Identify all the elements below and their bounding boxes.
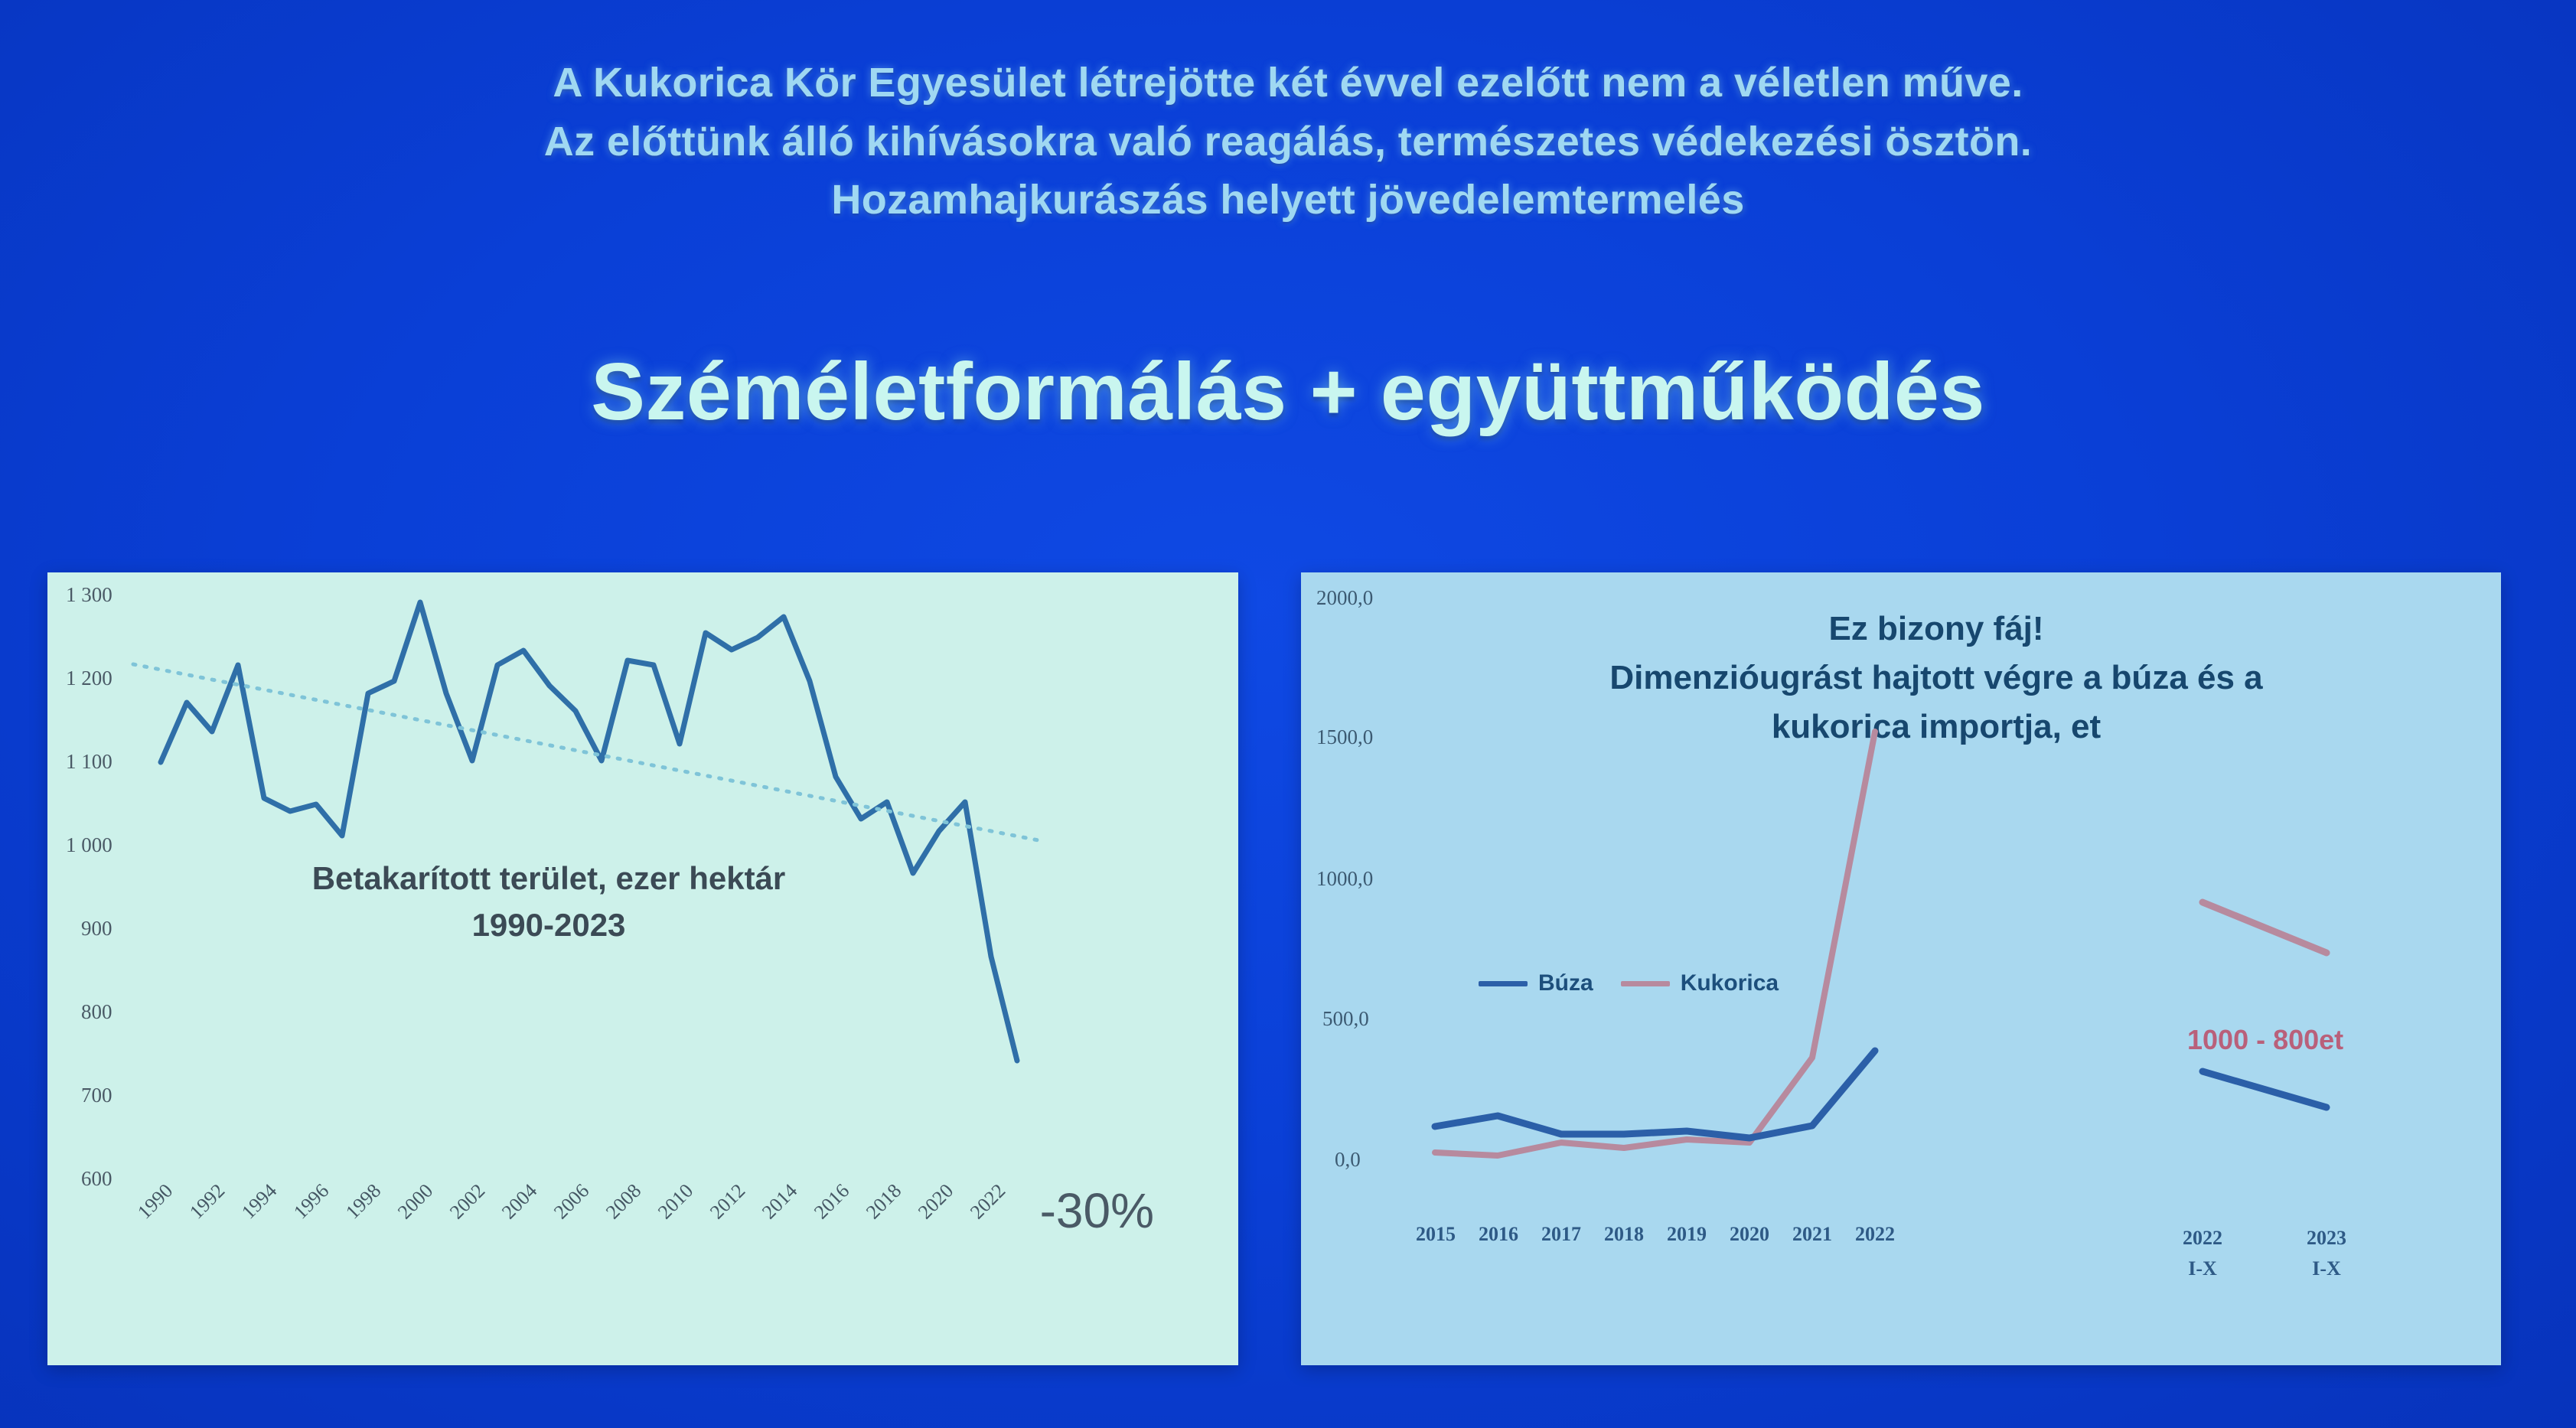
right-series-buza-partial (2203, 1071, 2327, 1107)
right-xtick-2019: 2019 (1659, 1223, 1714, 1246)
right-xtick-2015: 2015 (1408, 1223, 1463, 1246)
right-xtick-2021: 2021 (1785, 1223, 1840, 1246)
header-line-3: Hozamhajkurászás helyett jövedelemtermel… (0, 171, 2576, 230)
left-caption-text-1: Betakarított terület, ezer hektár (47, 856, 1050, 902)
header-line-2: Az előttünk álló kihívásokra való reagál… (0, 112, 2576, 171)
right-series-kukorica (1435, 732, 1875, 1156)
right-xtick-2018: 2018 (1596, 1223, 1652, 1246)
right-xtick-2020: 2020 (1722, 1223, 1777, 1246)
header-line-1: A Kukorica Kör Egyesület létrejötte két … (0, 54, 2576, 112)
left-percent-annotation: -30% (1040, 1182, 1154, 1239)
right-series-kukorica-partial (2203, 902, 2327, 953)
right-xtick-2023-ix: 2023 I-X (2299, 1223, 2354, 1285)
left-caption-text-2: 1990-2023 (47, 902, 1050, 949)
right-xtick-2022: 2022 (1847, 1223, 1903, 1246)
left-series-line (161, 602, 1017, 1061)
page-title: Széméletformálás + együttműködés (0, 346, 2576, 439)
right-xtick-2022-ix: 2022 I-X (2175, 1223, 2230, 1285)
right-chart-panel: 2000,0 1500,0 1000,0 500,0 0,0 Ez bizony… (1301, 572, 2501, 1365)
left-chart-caption: Betakarított terület Betakarított terüle… (47, 856, 1050, 949)
left-line-chart (47, 572, 1238, 1365)
presentation-slide: A Kukorica Kör Egyesület létrejötte két … (0, 0, 2576, 1428)
right-xtick-2017: 2017 (1534, 1223, 1589, 1246)
slide-header: A Kukorica Kör Egyesület létrejötte két … (0, 54, 2576, 230)
right-xtick-2016: 2016 (1471, 1223, 1526, 1246)
left-trend-line (133, 664, 1042, 841)
left-chart-panel: 1 300 1 200 1 100 1 000 900 800 700 600 … (47, 572, 1238, 1365)
